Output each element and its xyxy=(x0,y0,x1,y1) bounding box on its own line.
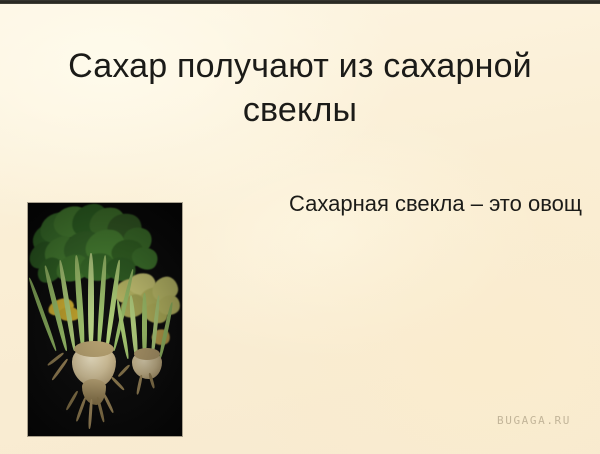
slide-canvas: Сахар получают из сахарной свеклы Сахарн… xyxy=(0,0,600,454)
beet-root-small-shoulder xyxy=(134,348,160,360)
stalk xyxy=(88,253,94,351)
slide-title: Сахар получают из сахарной свеклы xyxy=(0,44,600,132)
sugar-beet-photo xyxy=(28,203,182,436)
rootlet xyxy=(88,399,93,429)
beet-root-shoulder xyxy=(74,341,114,357)
rootlet xyxy=(75,396,87,421)
rootlet xyxy=(102,392,114,413)
beet-root-taper xyxy=(82,379,106,405)
rootlet xyxy=(110,376,125,391)
top-edge-band xyxy=(0,0,600,4)
rootlet xyxy=(65,390,79,411)
rootlet xyxy=(136,375,143,395)
watermark: BUGAGA.RU xyxy=(497,414,571,427)
rootlet xyxy=(117,364,130,378)
